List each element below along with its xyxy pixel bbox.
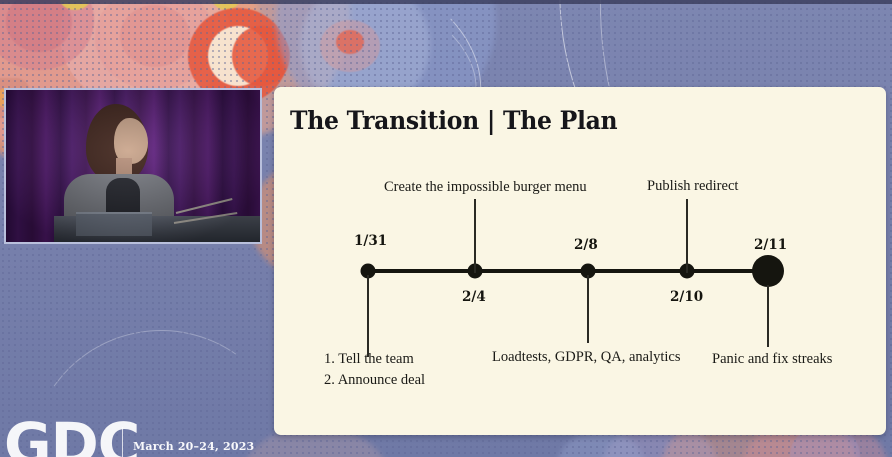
timeline-stem bbox=[686, 199, 688, 273]
timeline-label: Create the impossible burger menu bbox=[384, 179, 587, 196]
timeline-date: 1/31 bbox=[354, 233, 387, 249]
timeline-stem bbox=[474, 199, 476, 273]
timeline-date: 2/10 bbox=[670, 289, 703, 305]
list-item: 1. Tell the team bbox=[324, 349, 425, 370]
timeline-node-final bbox=[752, 255, 784, 287]
timeline-axis bbox=[368, 269, 768, 273]
timeline-label: Publish redirect bbox=[647, 178, 738, 195]
gdc-talk-screen: The Transition | The Plan 1/31 1. Tell t… bbox=[0, 0, 892, 457]
timeline-date: 2/11 bbox=[754, 237, 787, 253]
timeline-date: 2/8 bbox=[574, 237, 598, 253]
timeline-stem bbox=[767, 285, 769, 347]
list-item: 2. Announce deal bbox=[324, 370, 425, 391]
timeline-list: 1. Tell the team 2. Announce deal bbox=[324, 349, 425, 390]
footer-divider bbox=[122, 427, 123, 457]
gdc-logo: GDC bbox=[4, 415, 139, 457]
speaker-video-thumbnail[interactable] bbox=[4, 88, 262, 244]
timeline-label: Loadtests, GDPR, QA, analytics bbox=[492, 349, 680, 366]
top-edge-bar bbox=[0, 0, 892, 4]
timeline-stem bbox=[367, 275, 369, 357]
conference-dates: March 20–24, 2023 bbox=[133, 440, 254, 453]
video-vignette bbox=[6, 90, 260, 242]
timeline-stem bbox=[587, 275, 589, 343]
presentation-slide: The Transition | The Plan 1/31 1. Tell t… bbox=[274, 87, 886, 435]
timeline-date: 2/4 bbox=[462, 289, 486, 305]
timeline-label: Panic and fix streaks bbox=[712, 351, 832, 368]
timeline-diagram: 1/31 1. Tell the team 2. Announce deal 2… bbox=[274, 87, 886, 435]
